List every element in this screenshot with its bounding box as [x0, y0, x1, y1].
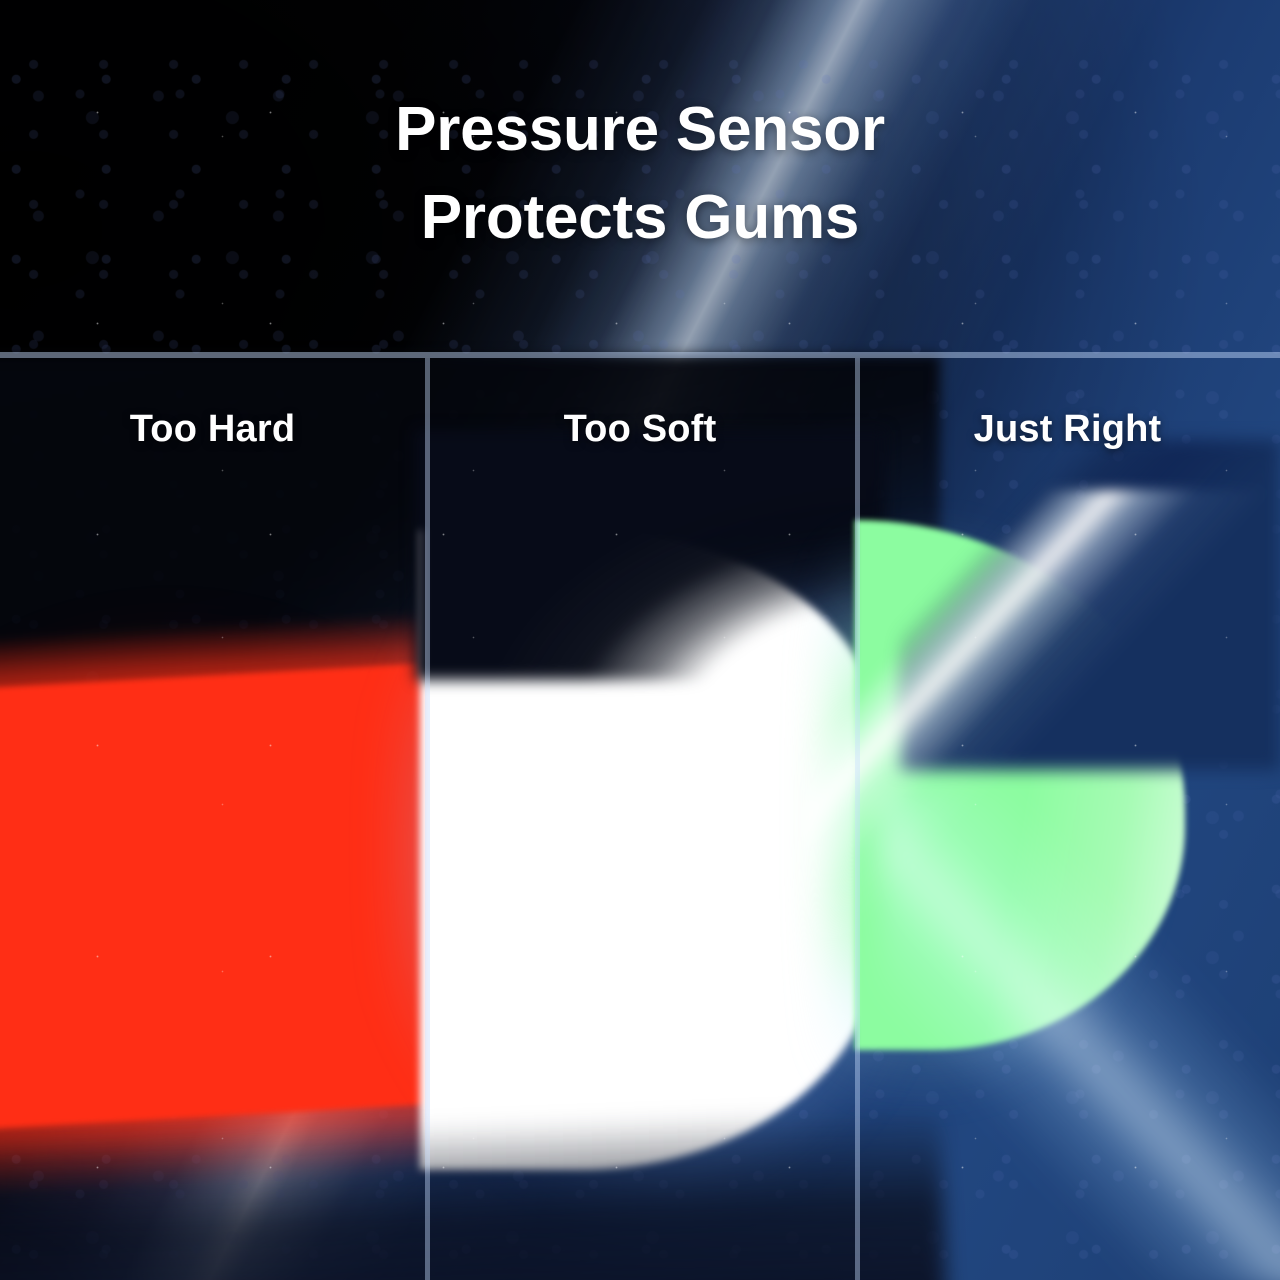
green-pressure-glow-halo: [830, 500, 1260, 1100]
lower-light-beam: [880, 790, 1280, 1280]
red-pressure-glow: [0, 610, 496, 1200]
panel-divider-vertical-right: [855, 358, 860, 1280]
white-glow-top-shadow: [415, 430, 885, 680]
green-pressure-glow: [855, 520, 1185, 1050]
pressure-sensor-graphic: Pressure Sensor Protects Gums Too Hard T…: [0, 0, 1280, 1280]
lower-dark-sweep: [0, 1105, 948, 1280]
page-title: Pressure Sensor Protects Gums: [0, 86, 1280, 262]
white-pressure-glow-halo: [395, 470, 895, 1230]
panel-divider-vertical-left: [425, 358, 430, 1280]
panel-label-too-hard: Too Hard: [0, 408, 425, 451]
white-pressure-glow: [420, 530, 880, 1170]
red-pressure-glow-core: [0, 662, 472, 1129]
green-glow-top-shadow: [900, 440, 1280, 770]
panel-divider-horizontal: [0, 352, 1280, 358]
red-pressure-glow-halo: [0, 600, 480, 1260]
panel-label-too-soft: Too Soft: [425, 408, 855, 451]
brush-rim-highlight: [800, 490, 1270, 960]
panel-label-just-right: Just Right: [855, 408, 1280, 451]
